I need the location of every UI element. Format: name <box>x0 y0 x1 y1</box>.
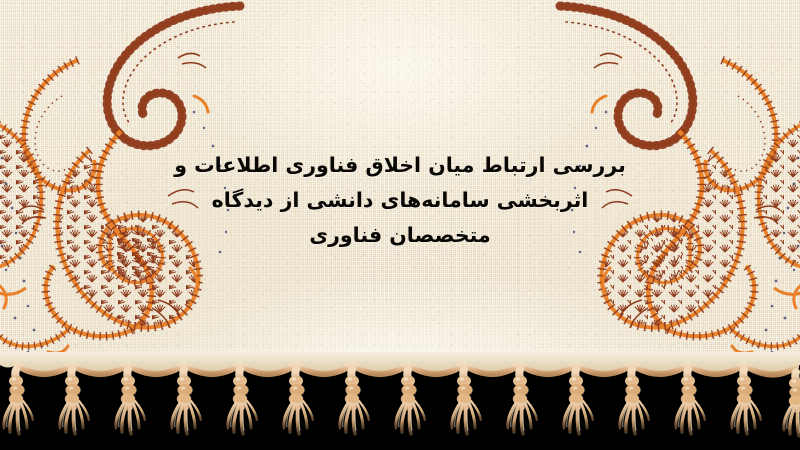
slide-canvas: بررسی ارتباط میان اخلاق فناوری اطلاعات و… <box>0 0 800 450</box>
fabric-hem-highlight <box>0 348 800 378</box>
fabric-panel <box>0 0 800 378</box>
tassel-group <box>4 370 800 436</box>
